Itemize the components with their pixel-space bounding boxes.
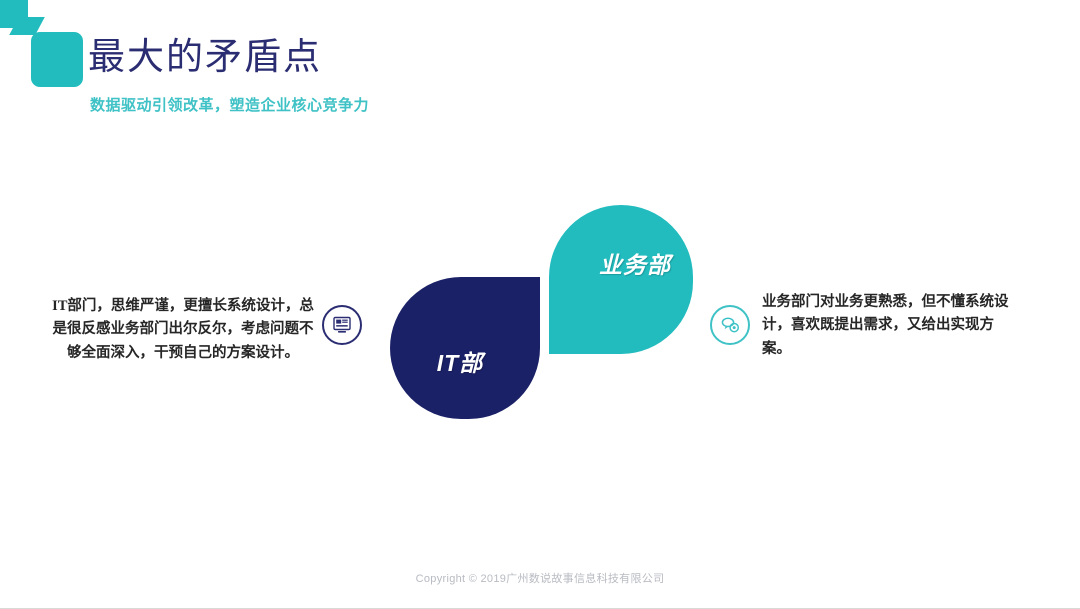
node-business-department[interactable]: 业务部 <box>549 205 693 354</box>
it-badge[interactable] <box>322 305 362 345</box>
node-it-label: IT部 <box>437 344 483 378</box>
copyright-footer: Copyright © 2019广州数说故事信息科技有限公司 <box>0 570 1080 586</box>
slide-canvas: 最大的矛盾点 数据驱动引领改革，塑造企业核心竞争力 IT部门，思维严谨，更擅长系… <box>0 0 1080 609</box>
brand-logo <box>0 0 100 95</box>
chat-bubbles-icon <box>720 316 741 335</box>
page-title: 最大的矛盾点 <box>88 36 322 79</box>
page-subtitle: 数据驱动引领改革，塑造企业核心竞争力 <box>90 94 369 115</box>
node-business-label: 业务部 <box>599 246 671 280</box>
node-it-department[interactable]: IT部 <box>390 277 540 419</box>
it-description: IT部门，思维严谨，更擅长系统设计，总是很反感业务部门出尔反尔，考虑问题不够全面… <box>52 295 314 365</box>
business-description: 业务部门对业务更熟悉，但不懂系统设计，喜欢既提出需求，又给出实现方案。 <box>762 291 1018 361</box>
monitor-icon <box>332 316 352 334</box>
logo-square-main <box>31 32 83 87</box>
business-badge[interactable] <box>710 305 750 345</box>
